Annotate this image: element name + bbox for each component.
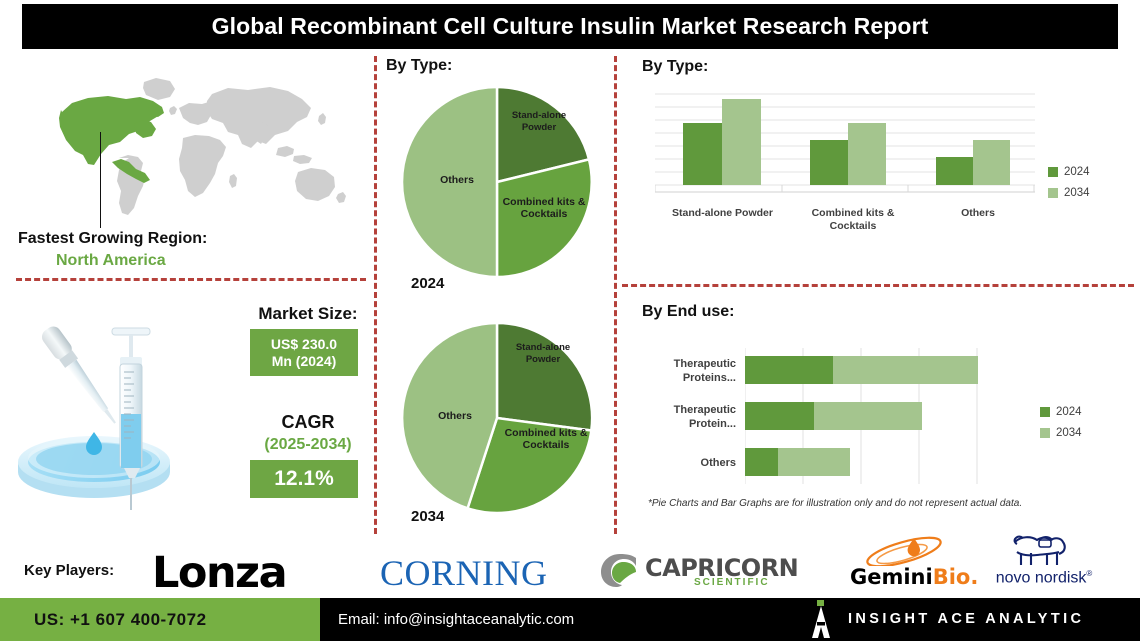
logo-geminibio-accent: Bio.	[933, 565, 979, 589]
footer-brand-bar: Email: info@insightaceanalytic.com INSIG…	[320, 598, 1140, 641]
pie-2034-year: 2034	[411, 508, 444, 525]
pie-2024-year: 2024	[411, 275, 444, 292]
legend-swatch-2034-enduse	[1040, 428, 1050, 438]
logo-geminibio-name: Gemini	[850, 565, 933, 589]
legend-item-2024: 2024	[1048, 166, 1090, 178]
bar-chart-legend: 2024 2034	[1048, 166, 1090, 208]
legend-item-2034-enduse: 2034	[1040, 427, 1082, 439]
report-title-bar: Global Recombinant Cell Culture Insulin …	[22, 4, 1118, 49]
lab-illustration	[8, 320, 248, 510]
hbar-2024-therapeutic-protein	[745, 402, 814, 430]
footer-phone-bar: US: +1 607 400-7072	[0, 598, 320, 641]
key-players-label: Key Players:	[24, 562, 114, 579]
bar-2024-others	[936, 157, 973, 185]
logo-capricorn-sub: SCIENTIFIC	[694, 577, 770, 588]
bar-2034-standalone	[722, 99, 761, 185]
market-size-value-box: US$ 230.0 Mn (2024)	[250, 329, 358, 376]
novo-nordisk-bull-icon	[1009, 534, 1085, 568]
fastest-growing-region-label: Fastest Growing Region:	[18, 230, 207, 248]
footer-phone[interactable]: US: +1 607 400-7072	[34, 610, 207, 630]
infographic-page: Global Recombinant Cell Culture Insulin …	[0, 0, 1140, 641]
hbar-category-label-therapeutic-protein: Therapeutic Protein...	[640, 403, 736, 431]
hbar-2024-others	[745, 448, 778, 476]
bar-section-heading: By Type:	[642, 58, 708, 76]
bar-2034-combined	[848, 123, 886, 185]
logo-novo-nordisk-text: novo nordisk®	[985, 569, 1103, 587]
insight-ace-logo-icon	[810, 600, 832, 638]
bar-category-label-others: Others	[930, 207, 1026, 220]
chart-disclaimer: *Pie Charts and Bar Graphs are for illus…	[648, 498, 1022, 509]
footer-email[interactable]: Email: info@insightaceanalytic.com	[338, 611, 574, 628]
hbar-2034-therapeutic-proteins	[833, 356, 978, 384]
capricorn-mark-icon	[598, 550, 642, 590]
footer-brand-name: INSIGHT ACE ANALYTIC	[848, 611, 1084, 627]
bar-2024-combined	[810, 140, 848, 185]
divider-vertical-right	[614, 56, 617, 534]
pie-chart-2024	[399, 84, 595, 280]
bar-category-label-combined: Combined kits & Cocktails	[800, 207, 906, 233]
cagr-label: CAGR	[248, 412, 368, 433]
legend-label-2024: 2024	[1064, 166, 1090, 178]
logo-geminibio: GeminiBio.	[848, 538, 978, 590]
legend-label-2034: 2034	[1064, 187, 1090, 199]
pie-section-heading: By Type:	[386, 57, 452, 75]
pie-chart-2034	[399, 320, 595, 516]
legend-label-2034-enduse: 2034	[1056, 427, 1082, 439]
bar-chart-by-type	[655, 88, 1035, 200]
legend-item-2024-enduse: 2024	[1040, 406, 1082, 418]
cagr-value: 12.1%	[274, 467, 334, 491]
logo-novo-nordisk: novo nordisk®	[985, 536, 1113, 592]
logo-novo-nordisk-mark: ®	[1086, 569, 1092, 578]
hbar-2024-therapeutic-proteins	[745, 356, 833, 384]
cagr-value-box: 12.1%	[250, 460, 358, 498]
map-highlight-north-america	[59, 96, 164, 183]
legend-label-2024-enduse: 2024	[1056, 406, 1082, 418]
hbar-category-label-others: Others	[640, 456, 736, 470]
divider-vertical-left	[374, 56, 377, 534]
logo-novo-nordisk-name: novo nordisk	[996, 569, 1087, 586]
logo-capricorn: CAPRICORN SCIENTIFIC	[598, 550, 803, 590]
fastest-growing-region-value: North America	[56, 252, 166, 270]
hbar-2034-therapeutic-protein	[814, 402, 922, 430]
enduse-chart-legend: 2024 2034	[1040, 406, 1082, 448]
bar-category-label-standalone: Stand-alone Powder	[660, 207, 785, 220]
geminibio-swoosh-icon	[862, 536, 948, 566]
hbar-category-label-therapeutic-proteins: Therapeutic Proteins...	[640, 357, 736, 385]
world-map	[16, 72, 364, 224]
logo-lonza: Lonza	[152, 548, 286, 598]
market-size-line1: US$ 230.0	[271, 336, 337, 353]
map-pointer-line	[100, 132, 101, 228]
market-size-line2: Mn (2024)	[272, 353, 337, 370]
divider-horizontal-left	[16, 278, 366, 281]
market-size-label: Market Size:	[248, 304, 368, 324]
hbar-2034-others	[778, 448, 850, 476]
bar-2034-others	[973, 140, 1010, 185]
cagr-period: (2025-2034)	[248, 436, 368, 454]
legend-swatch-2024	[1048, 167, 1058, 177]
bar-2024-standalone	[683, 123, 722, 185]
legend-swatch-2034	[1048, 188, 1058, 198]
legend-item-2034: 2034	[1048, 187, 1090, 199]
logo-corning: CORNING	[380, 552, 548, 594]
legend-swatch-2024-enduse	[1040, 407, 1050, 417]
logo-geminibio-text: GeminiBio.	[850, 565, 978, 589]
divider-horizontal-right	[622, 284, 1134, 287]
enduse-section-heading: By End use:	[642, 303, 734, 321]
bar-chart-by-end-use	[745, 348, 995, 488]
page-title: Global Recombinant Cell Culture Insulin …	[212, 13, 929, 40]
